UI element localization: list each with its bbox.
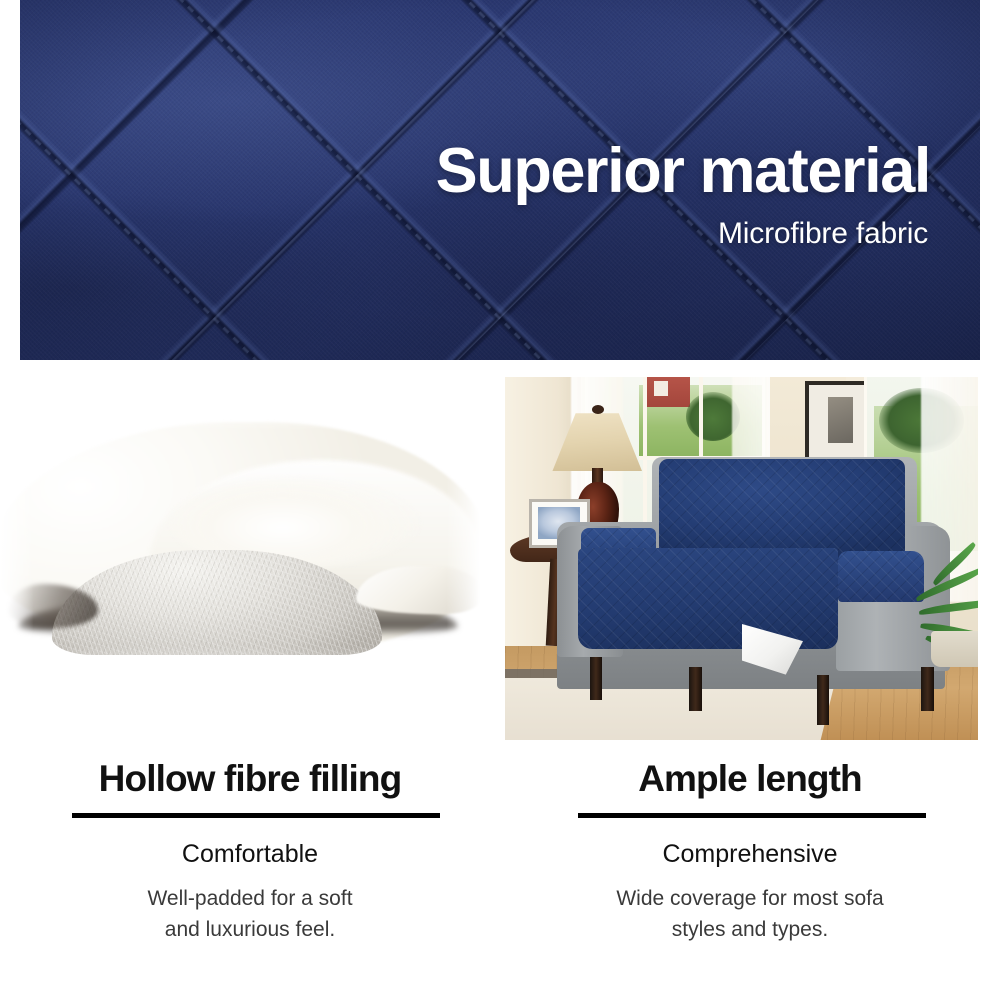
feature-subtitle: Comfortable (0, 840, 500, 869)
plant-leaf (919, 599, 978, 616)
sofa-leg (921, 667, 933, 711)
sofa-leg (590, 657, 602, 701)
feature-divider (578, 813, 926, 818)
fibre-edge-fade (0, 400, 480, 700)
hero-title: Superior material (436, 140, 930, 203)
hollow-fibre-filling-photo (0, 400, 480, 700)
feature-columns: Hollow fibre filling Comfortable Well-pa… (0, 758, 1000, 1000)
product-marketing-page: Superior material Microfibre fabric (0, 0, 1000, 1000)
plant-pot (931, 631, 978, 667)
feature-title: Ample length (500, 758, 1000, 799)
sofa-cover-backrest (659, 459, 905, 561)
feature-description-line1: Wide coverage for most sofa (500, 885, 1000, 913)
cover-quilt-texture (578, 548, 838, 650)
sofa-leg (689, 667, 701, 711)
feature-description-line1: Well-padded for a soft (0, 885, 500, 913)
feature-divider (72, 813, 440, 818)
hero-banner: Superior material Microfibre fabric (20, 0, 980, 360)
hero-text-block: Superior material Microfibre fabric (436, 140, 930, 251)
cover-quilt-texture (659, 459, 905, 561)
feature-description-line2: and luxurious feel. (0, 916, 500, 944)
sofa-cover-room-photo (505, 377, 978, 740)
table-lamp-finial (592, 405, 604, 414)
sofa-cover-seat (578, 548, 838, 650)
feature-column-ample-length: Ample length Comprehensive Wide coverage… (500, 758, 1000, 1000)
window-building-detail (654, 381, 668, 396)
sofa-leg (817, 675, 829, 726)
feature-column-hollow-fibre: Hollow fibre filling Comfortable Well-pa… (0, 758, 500, 1000)
feature-title: Hollow fibre filling (0, 758, 500, 799)
feature-subtitle: Comprehensive (500, 840, 1000, 869)
hero-subtitle: Microfibre fabric (436, 217, 928, 251)
feature-description-line2: styles and types. (500, 916, 1000, 944)
